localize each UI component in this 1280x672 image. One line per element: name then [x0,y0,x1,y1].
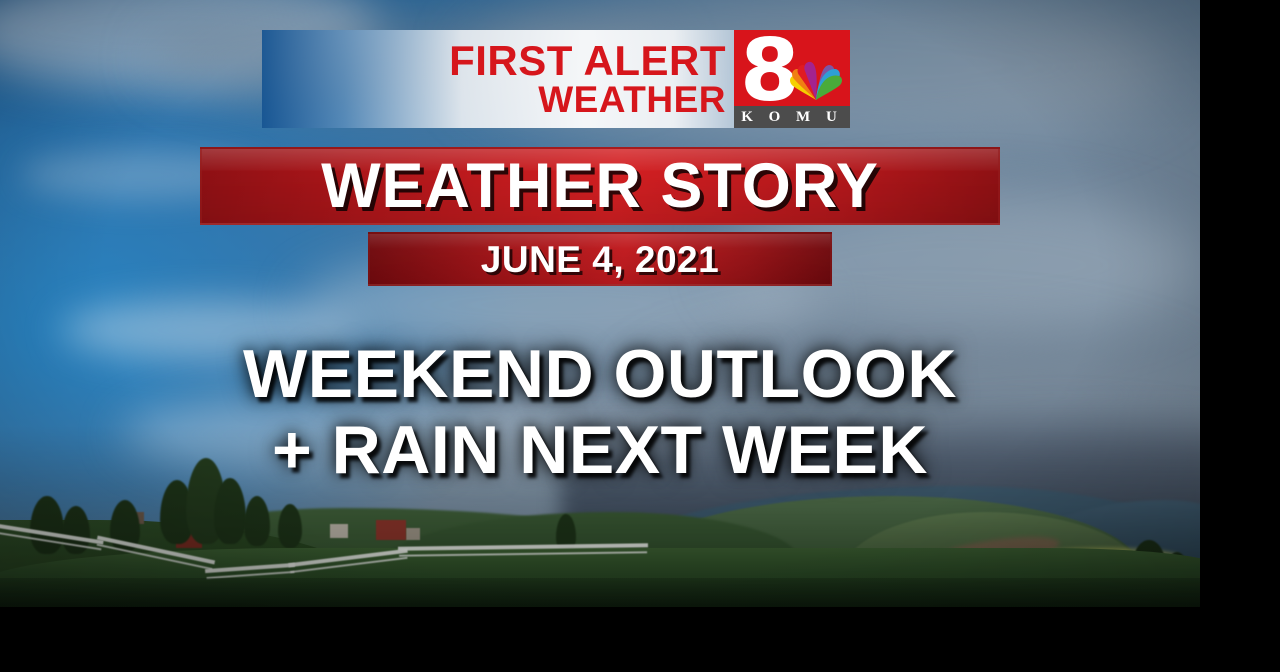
date-text: JUNE 4, 2021 [481,241,719,278]
date-banner: JUNE 4, 2021 [368,232,832,286]
station-brand-text: FIRST ALERT WEATHER [262,30,734,128]
first-alert-weather-header: FIRST ALERT WEATHER 8 K O M U [262,30,850,128]
call-letters: K O M U [734,106,850,128]
weather-graphic: FIRST ALERT WEATHER 8 K O M U WEATHER ST… [0,0,1280,672]
weather-story-banner: WEATHER STORY [200,147,1000,225]
komu-8-logo: 8 K O M U [734,30,850,128]
letterbox-bar-bottom [0,607,1280,672]
first-alert-label: FIRST ALERT [449,41,726,81]
headline-line-2: + RAIN NEXT WEEK [0,412,1200,488]
headline-block: WEEKEND OUTLOOK + RAIN NEXT WEEK [0,336,1200,488]
nbc-peacock-icon [786,56,846,102]
weather-story-title: WEATHER STORY [321,155,879,218]
headline-line-1: WEEKEND OUTLOOK [0,336,1200,412]
letterbox-bar-right [1200,0,1280,672]
weather-label: WEATHER [538,81,726,119]
